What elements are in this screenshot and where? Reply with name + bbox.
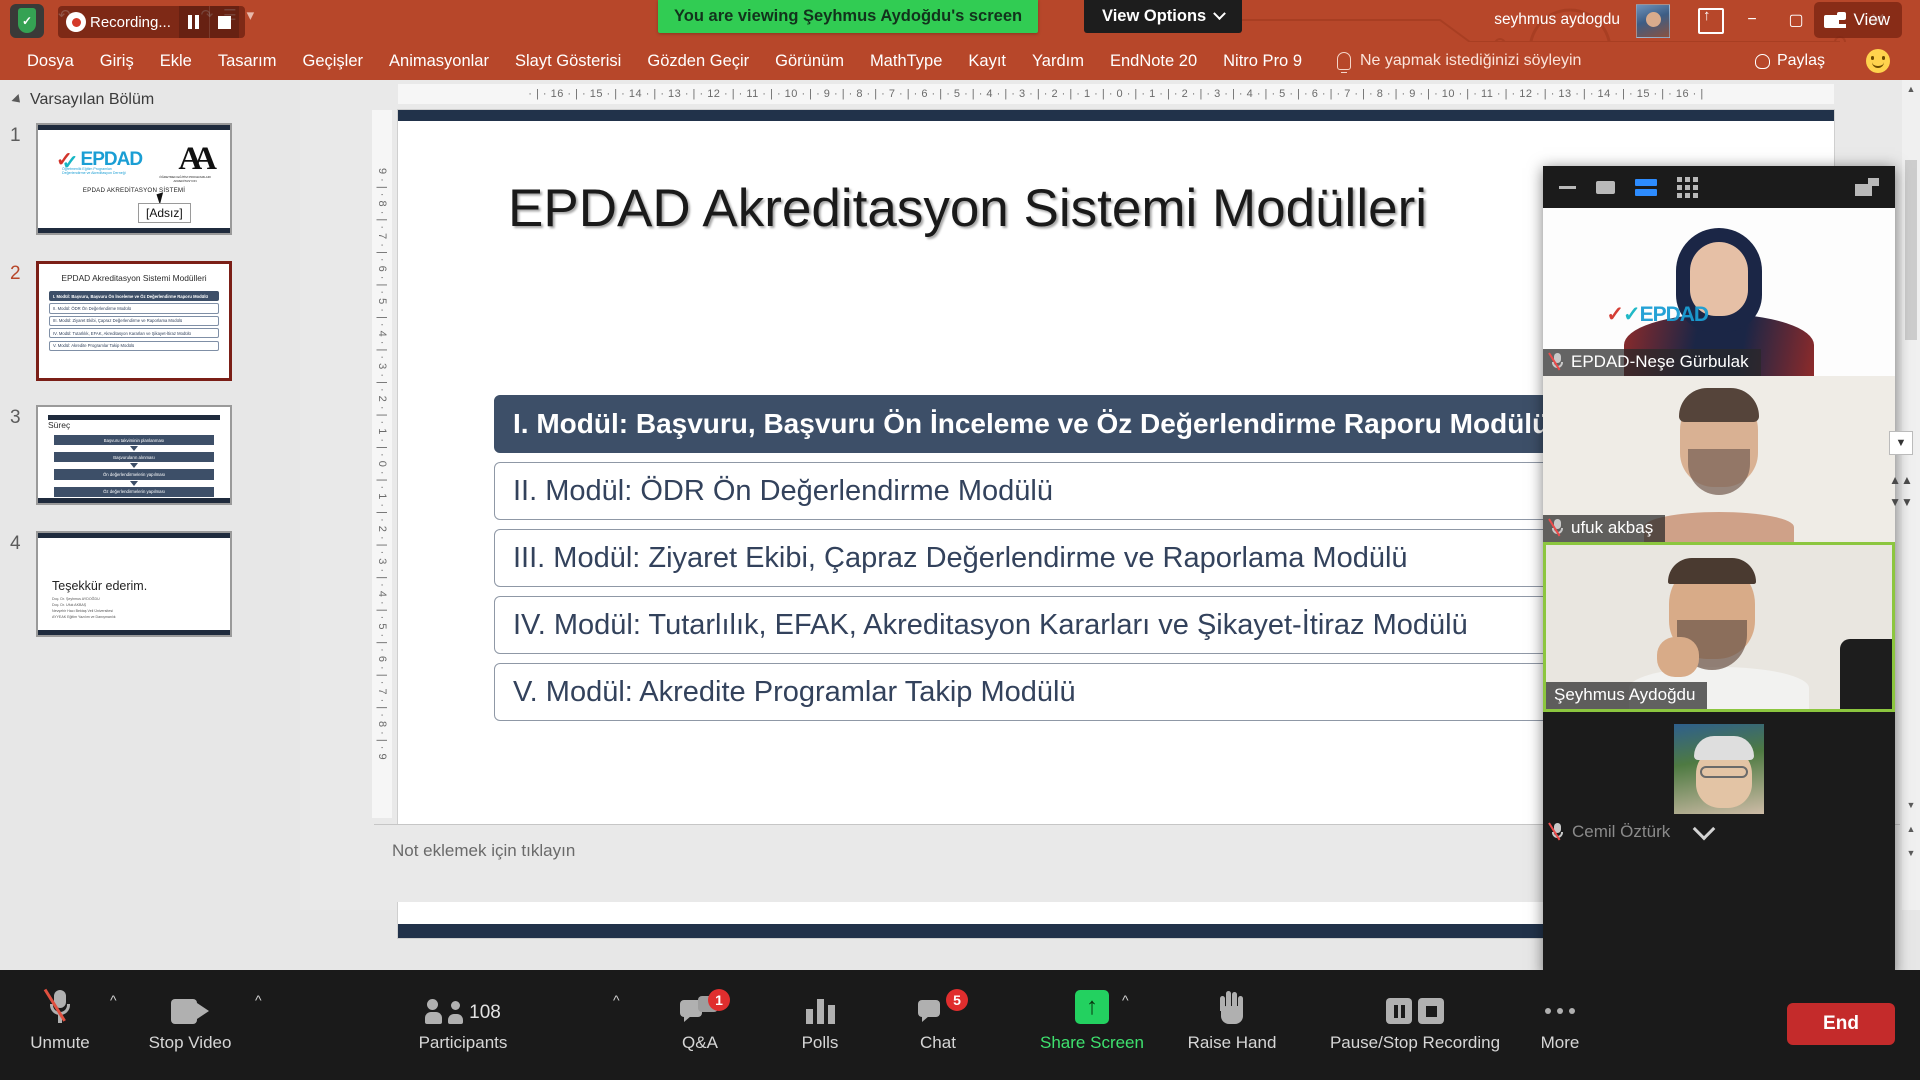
menu-item-animasyonlar[interactable]: Animasyonlar xyxy=(376,49,502,74)
slide-thumbnail-1[interactable]: ✓ ✓ EPDAD Öğretmenlik Eğitim Programları… xyxy=(36,123,232,235)
customize-qat-icon[interactable]: ▾ xyxy=(247,6,255,24)
screen-root: ✓ ↶ ↷ ☰ ▾ Recording... You are viewing Ş xyxy=(0,0,1920,1080)
thumbnail-row-4[interactable]: 4 Teşekkür ederim. Doç. Dr. Şeyhmus AYDO… xyxy=(0,531,300,651)
slide-thumbnail-pane[interactable]: Varsayılan Bölüm 1 ✓ ✓ EPDAD Öğretmenlik… xyxy=(0,80,300,910)
slide3-step-1: Başvuru takviminin planlanması xyxy=(54,435,214,445)
menu-item-slayt-gosterisi[interactable]: Slayt Gösterisi xyxy=(502,49,634,74)
zoom-bottom-toolbar: Unmute ^ Stop Video ^ 108 Participants ^… xyxy=(0,970,1920,1080)
microphone-muted-icon xyxy=(1551,519,1564,537)
participant-name: Şeyhmus Aydoğdu xyxy=(1554,685,1695,705)
slide2-row-1: I. Modül: Başvuru, Başvuru Ön İnceleme v… xyxy=(49,291,219,301)
tell-me-placeholder: Ne yapmak istediğinizi söyleyin xyxy=(1360,52,1581,70)
video-panel-toolbar xyxy=(1543,166,1895,208)
window-minimize-button[interactable]: − xyxy=(1732,4,1772,36)
record-dot-icon xyxy=(66,12,86,32)
tell-me-search[interactable]: Ne yapmak istediğinizi söyleyin xyxy=(1337,52,1581,70)
menu-item-nitro-pro[interactable]: Nitro Pro 9 xyxy=(1210,49,1315,74)
slide2-title: EPDAD Akreditasyon Sistemi Modülleri xyxy=(49,273,219,283)
toolbar-label-raise-hand: Raise Hand xyxy=(1188,1033,1277,1053)
horizontal-ruler[interactable]: · | · 16 · | · 15 · | · 14 · | · 13 · | … xyxy=(398,84,1834,104)
slide1-caption: EPDAD AKREDİTASYON SİSTEMİ xyxy=(38,187,230,194)
slide-number-1: 1 xyxy=(10,125,21,147)
participant-name-badge: Şeyhmus Aydoğdu xyxy=(1546,682,1707,709)
slide-edge-bottom xyxy=(38,228,230,233)
microphone-muted-icon xyxy=(49,990,71,1024)
slide-thumbnail-2[interactable]: EPDAD Akreditasyon Sistemi Modülleri I. … xyxy=(36,261,232,381)
toolbar-label-chat: Chat xyxy=(920,1033,956,1053)
slide4-affiliation-2: AYYEAK Eğitim Yazılım ve Danışmanlık xyxy=(52,614,230,620)
vertical-ruler-ticks: 9 · | · 8 · | · 7 · | · 6 · | · 5 · | · … xyxy=(376,168,388,760)
raise-hand-icon xyxy=(1217,992,1247,1024)
slide4-authors: Doç. Dr. Şeyhmus AYDOĞDU Doç. Dr. Ufuk A… xyxy=(52,596,230,620)
video-tile-nese[interactable]: ✓✓EPDAD EPDAD-Neşe Gürbulak xyxy=(1543,208,1895,376)
qa-badge-count: 1 xyxy=(708,989,730,1011)
scroll-up-arrow-icon[interactable]: ▲ xyxy=(1902,80,1920,98)
aa-logo: AA xyxy=(178,141,208,178)
participant-name-badge: EPDAD-Neşe Gürbulak xyxy=(1543,349,1761,376)
menu-item-gozden-gecir[interactable]: Gözden Geçir xyxy=(634,49,762,74)
video-tile-ufuk[interactable]: ufuk akbaş xyxy=(1543,376,1895,542)
slide-top-band xyxy=(398,110,1834,121)
aa-logo-subtitle: ÖĞRETMEN EĞİTİM PROGRAMLARI AKREDİTASYON xyxy=(150,175,220,183)
ribbon-view-icon[interactable] xyxy=(1635,179,1657,196)
slide4-edge-top xyxy=(38,533,230,538)
toolbar-chat[interactable]: 5 Chat xyxy=(878,984,998,1053)
recording-label: Recording... xyxy=(90,14,171,31)
lightbulb-icon xyxy=(1337,52,1351,70)
feedback-smiley-icon[interactable] xyxy=(1866,49,1890,73)
participants-icon xyxy=(425,999,463,1024)
pause-stop-recording-icon xyxy=(1386,998,1444,1024)
next-slide-arrow-icon[interactable]: ▼ xyxy=(1902,844,1920,862)
chevron-down-icon xyxy=(1213,7,1226,20)
arrow-down-icon xyxy=(130,481,138,486)
slide3-step-2: Başvuruların alınması xyxy=(54,452,214,462)
menu-item-tasarim[interactable]: Tasarım xyxy=(205,49,290,74)
account-avatar[interactable] xyxy=(1636,4,1670,38)
toolbar-label-share-screen: Share Screen xyxy=(1040,1033,1144,1053)
video-tile-seyhmus[interactable]: Şeyhmus Aydoğdu xyxy=(1543,542,1895,712)
scroll-bottom-icon[interactable]: ▼▼ xyxy=(1889,491,1913,513)
account-name: seyhmus aydogdu xyxy=(1494,11,1620,29)
menu-item-yardim[interactable]: Yardım xyxy=(1019,49,1097,74)
participant-name-badge: ufuk akbaş xyxy=(1543,515,1665,542)
stop-recording-button[interactable] xyxy=(209,6,239,38)
window-icon[interactable] xyxy=(1596,181,1615,194)
participant-name: Cemil Öztürk xyxy=(1572,822,1670,842)
chevron-down-icon[interactable] xyxy=(1693,818,1716,841)
slide2-row-5: V. Modül: Akredite Programlar Takip Modü… xyxy=(49,341,219,351)
slide2-row-3: III. Modül: Ziyaret Ekibi, Çapraz Değerl… xyxy=(49,316,219,326)
layout-view-icon xyxy=(1824,12,1846,29)
picture-in-picture-icon[interactable] xyxy=(1855,178,1879,196)
scrollbar-thumb[interactable] xyxy=(1905,160,1917,340)
participant-name-badge: Cemil Öztürk xyxy=(1543,822,1712,842)
vertical-ruler[interactable]: 9 · | · 8 · | · 7 · | · 6 · | · 5 · | · … xyxy=(372,110,392,818)
viewing-screen-banner: You are viewing Şeyhmus Aydoğdu's screen xyxy=(658,0,1038,33)
view-options-label: View Options xyxy=(1102,7,1206,26)
slide4-title: Teşekkür ederim. xyxy=(52,579,230,593)
minimize-icon[interactable] xyxy=(1559,186,1576,189)
thumbnail-row-2[interactable]: 2 EPDAD Akreditasyon Sistemi Modülleri I… xyxy=(0,261,300,397)
menu-item-ekle[interactable]: Ekle xyxy=(147,49,205,74)
slide-number-3: 3 xyxy=(10,407,21,429)
collapse-triangle-icon[interactable] xyxy=(11,94,23,106)
video-tile-cemil[interactable]: Cemil Öztürk xyxy=(1543,712,1895,846)
qa-bubbles-icon: 1 xyxy=(680,996,720,1024)
pause-recording-button[interactable] xyxy=(179,6,209,38)
participants-count: 108 xyxy=(469,1002,501,1024)
view-options-button[interactable]: View Options xyxy=(1084,0,1242,33)
scroll-top-icon[interactable]: ▲▲ xyxy=(1889,469,1913,491)
video-panel-scroll-controls[interactable]: ▼ ▲▲ ▼▼ xyxy=(1889,431,1913,731)
toolbar-label-qa: Q&A xyxy=(682,1033,718,1053)
slide3-title: Süreç xyxy=(48,420,220,430)
toolbar-share-screen[interactable]: Share Screen xyxy=(1012,984,1172,1053)
chat-bubble-icon: 5 xyxy=(918,996,958,1024)
app-shield-icon: ✓ xyxy=(10,4,44,38)
recording-indicator: Recording... xyxy=(58,6,245,38)
end-meeting-button[interactable]: End xyxy=(1787,1003,1895,1045)
slide-number-4: 4 xyxy=(10,533,21,555)
scroll-next-page-button[interactable]: ▼ xyxy=(1889,431,1913,455)
arrow-down-icon xyxy=(130,446,138,451)
thumbnail-row-3[interactable]: 3 Süreç Başvuru takviminin planlanması B… xyxy=(0,405,300,523)
slide4-edge-bottom xyxy=(38,630,230,635)
toolbar-qa[interactable]: 1 Q&A xyxy=(640,984,760,1053)
participant-photo xyxy=(1674,724,1764,814)
toolbar-label-polls: Polls xyxy=(802,1033,839,1053)
zoom-video-panel[interactable]: ✓✓EPDAD EPDAD-Neşe Gürbulak ufuk akbaş xyxy=(1543,166,1895,976)
section-title: Varsayılan Bölüm xyxy=(30,91,154,109)
toolbar-stop-video[interactable]: Stop Video xyxy=(130,984,250,1053)
more-dots-icon xyxy=(1545,998,1575,1024)
powerpoint-title-bar: ✓ ↶ ↷ ☰ ▾ Recording... You are viewing Ş xyxy=(0,0,1920,42)
thumbnail-row-1[interactable]: 1 ✓ ✓ EPDAD Öğretmenlik Eğitim Programla… xyxy=(0,123,300,253)
slide-edge-top xyxy=(38,125,230,130)
slide-title[interactable]: EPDAD Akreditasyon Sistemi Modülleri xyxy=(508,178,1427,239)
toolbar-raise-hand[interactable]: Raise Hand xyxy=(1152,984,1312,1053)
microphone-muted-icon xyxy=(1551,823,1564,841)
share-screen-icon xyxy=(1075,990,1109,1024)
toolbar-label-unmute: Unmute xyxy=(30,1033,90,1053)
menu-item-endnote[interactable]: EndNote 20 xyxy=(1097,49,1210,74)
slide2-row-2: II. Modül: ÖDR Ön Değerlendirme Modülü xyxy=(49,303,219,313)
menu-item-dosya[interactable]: Dosya xyxy=(14,49,87,74)
menu-item-mathtype[interactable]: MathType xyxy=(857,49,955,74)
pause-icon xyxy=(188,15,199,29)
epdad-logo-subtitle: Öğretmenlik Eğitim Programları Değerlend… xyxy=(62,167,136,176)
toolbar-participants[interactable]: 108 Participants xyxy=(388,984,538,1053)
arrow-down-icon xyxy=(130,463,138,468)
section-header[interactable]: Varsayılan Bölüm xyxy=(0,80,300,115)
slide-number-2: 2 xyxy=(10,263,21,285)
camera-icon xyxy=(171,999,209,1024)
slide3-step-3: Ön değerlendirmelerin yapılması xyxy=(54,469,214,479)
menu-item-gecisler[interactable]: Geçişler xyxy=(290,49,377,74)
slide-thumbnail-3[interactable]: Süreç Başvuru takviminin planlanması Baş… xyxy=(36,405,232,505)
menu-item-giris[interactable]: Giriş xyxy=(87,49,147,74)
tooltip-adsiz: [Adsız] xyxy=(138,203,191,223)
toolbar-unmute[interactable]: Unmute xyxy=(0,984,120,1053)
microphone-muted-icon xyxy=(1551,353,1564,371)
toolbar-label-participants: Participants xyxy=(419,1033,508,1053)
toolbar-label-stop-video: Stop Video xyxy=(149,1033,232,1053)
window-maximize-button[interactable]: ▢ xyxy=(1776,4,1816,36)
powerpoint-menu-bar: Dosya Giriş Ekle Tasarım Geçişler Animas… xyxy=(0,42,1920,80)
person-add-icon xyxy=(1755,54,1770,69)
participants-caret-icon[interactable]: ^ xyxy=(613,992,620,1008)
slide3-edge-bottom xyxy=(38,498,230,503)
floating-view-label: View xyxy=(1853,10,1890,30)
chat-badge-count: 5 xyxy=(946,989,968,1011)
slide3-step-4: Öz değerlendirmelerin yapılması xyxy=(54,487,214,497)
previous-slide-arrow-icon[interactable]: ▲ xyxy=(1902,820,1920,838)
toolbar-label-more: More xyxy=(1541,1033,1580,1053)
zoom-floating-view-button[interactable]: View xyxy=(1814,2,1902,38)
share-label: Paylaş xyxy=(1777,52,1825,70)
stop-icon xyxy=(218,16,231,29)
menu-item-kayit[interactable]: Kayıt xyxy=(955,49,1019,74)
toolbar-label-pause-stop-recording: Pause/Stop Recording xyxy=(1330,1033,1500,1053)
toolbar-polls[interactable]: Polls xyxy=(760,984,880,1053)
participant-name: ufuk akbaş xyxy=(1571,518,1653,538)
slide-thumbnail-4[interactable]: Teşekkür ederim. Doç. Dr. Şeyhmus AYDOĞD… xyxy=(36,531,232,637)
menu-item-gorunum[interactable]: Görünüm xyxy=(762,49,857,74)
polls-bars-icon xyxy=(806,998,835,1024)
toolbar-more[interactable]: More xyxy=(1480,984,1640,1053)
share-options-caret-icon[interactable]: ^ xyxy=(1122,992,1129,1008)
scroll-down-arrow-icon[interactable]: ▼ xyxy=(1902,796,1920,814)
slide2-row-4: IV. Modül: Tutarlılık, EFAK, Akreditasyo… xyxy=(49,328,219,338)
video-options-caret-icon[interactable]: ^ xyxy=(255,992,262,1008)
share-button[interactable]: Paylaş xyxy=(1755,52,1825,70)
audio-options-caret-icon[interactable]: ^ xyxy=(110,992,117,1008)
ribbon-display-options-icon[interactable] xyxy=(1698,8,1724,34)
gallery-view-icon[interactable] xyxy=(1677,177,1698,198)
participant-name: EPDAD-Neşe Gürbulak xyxy=(1571,352,1749,372)
